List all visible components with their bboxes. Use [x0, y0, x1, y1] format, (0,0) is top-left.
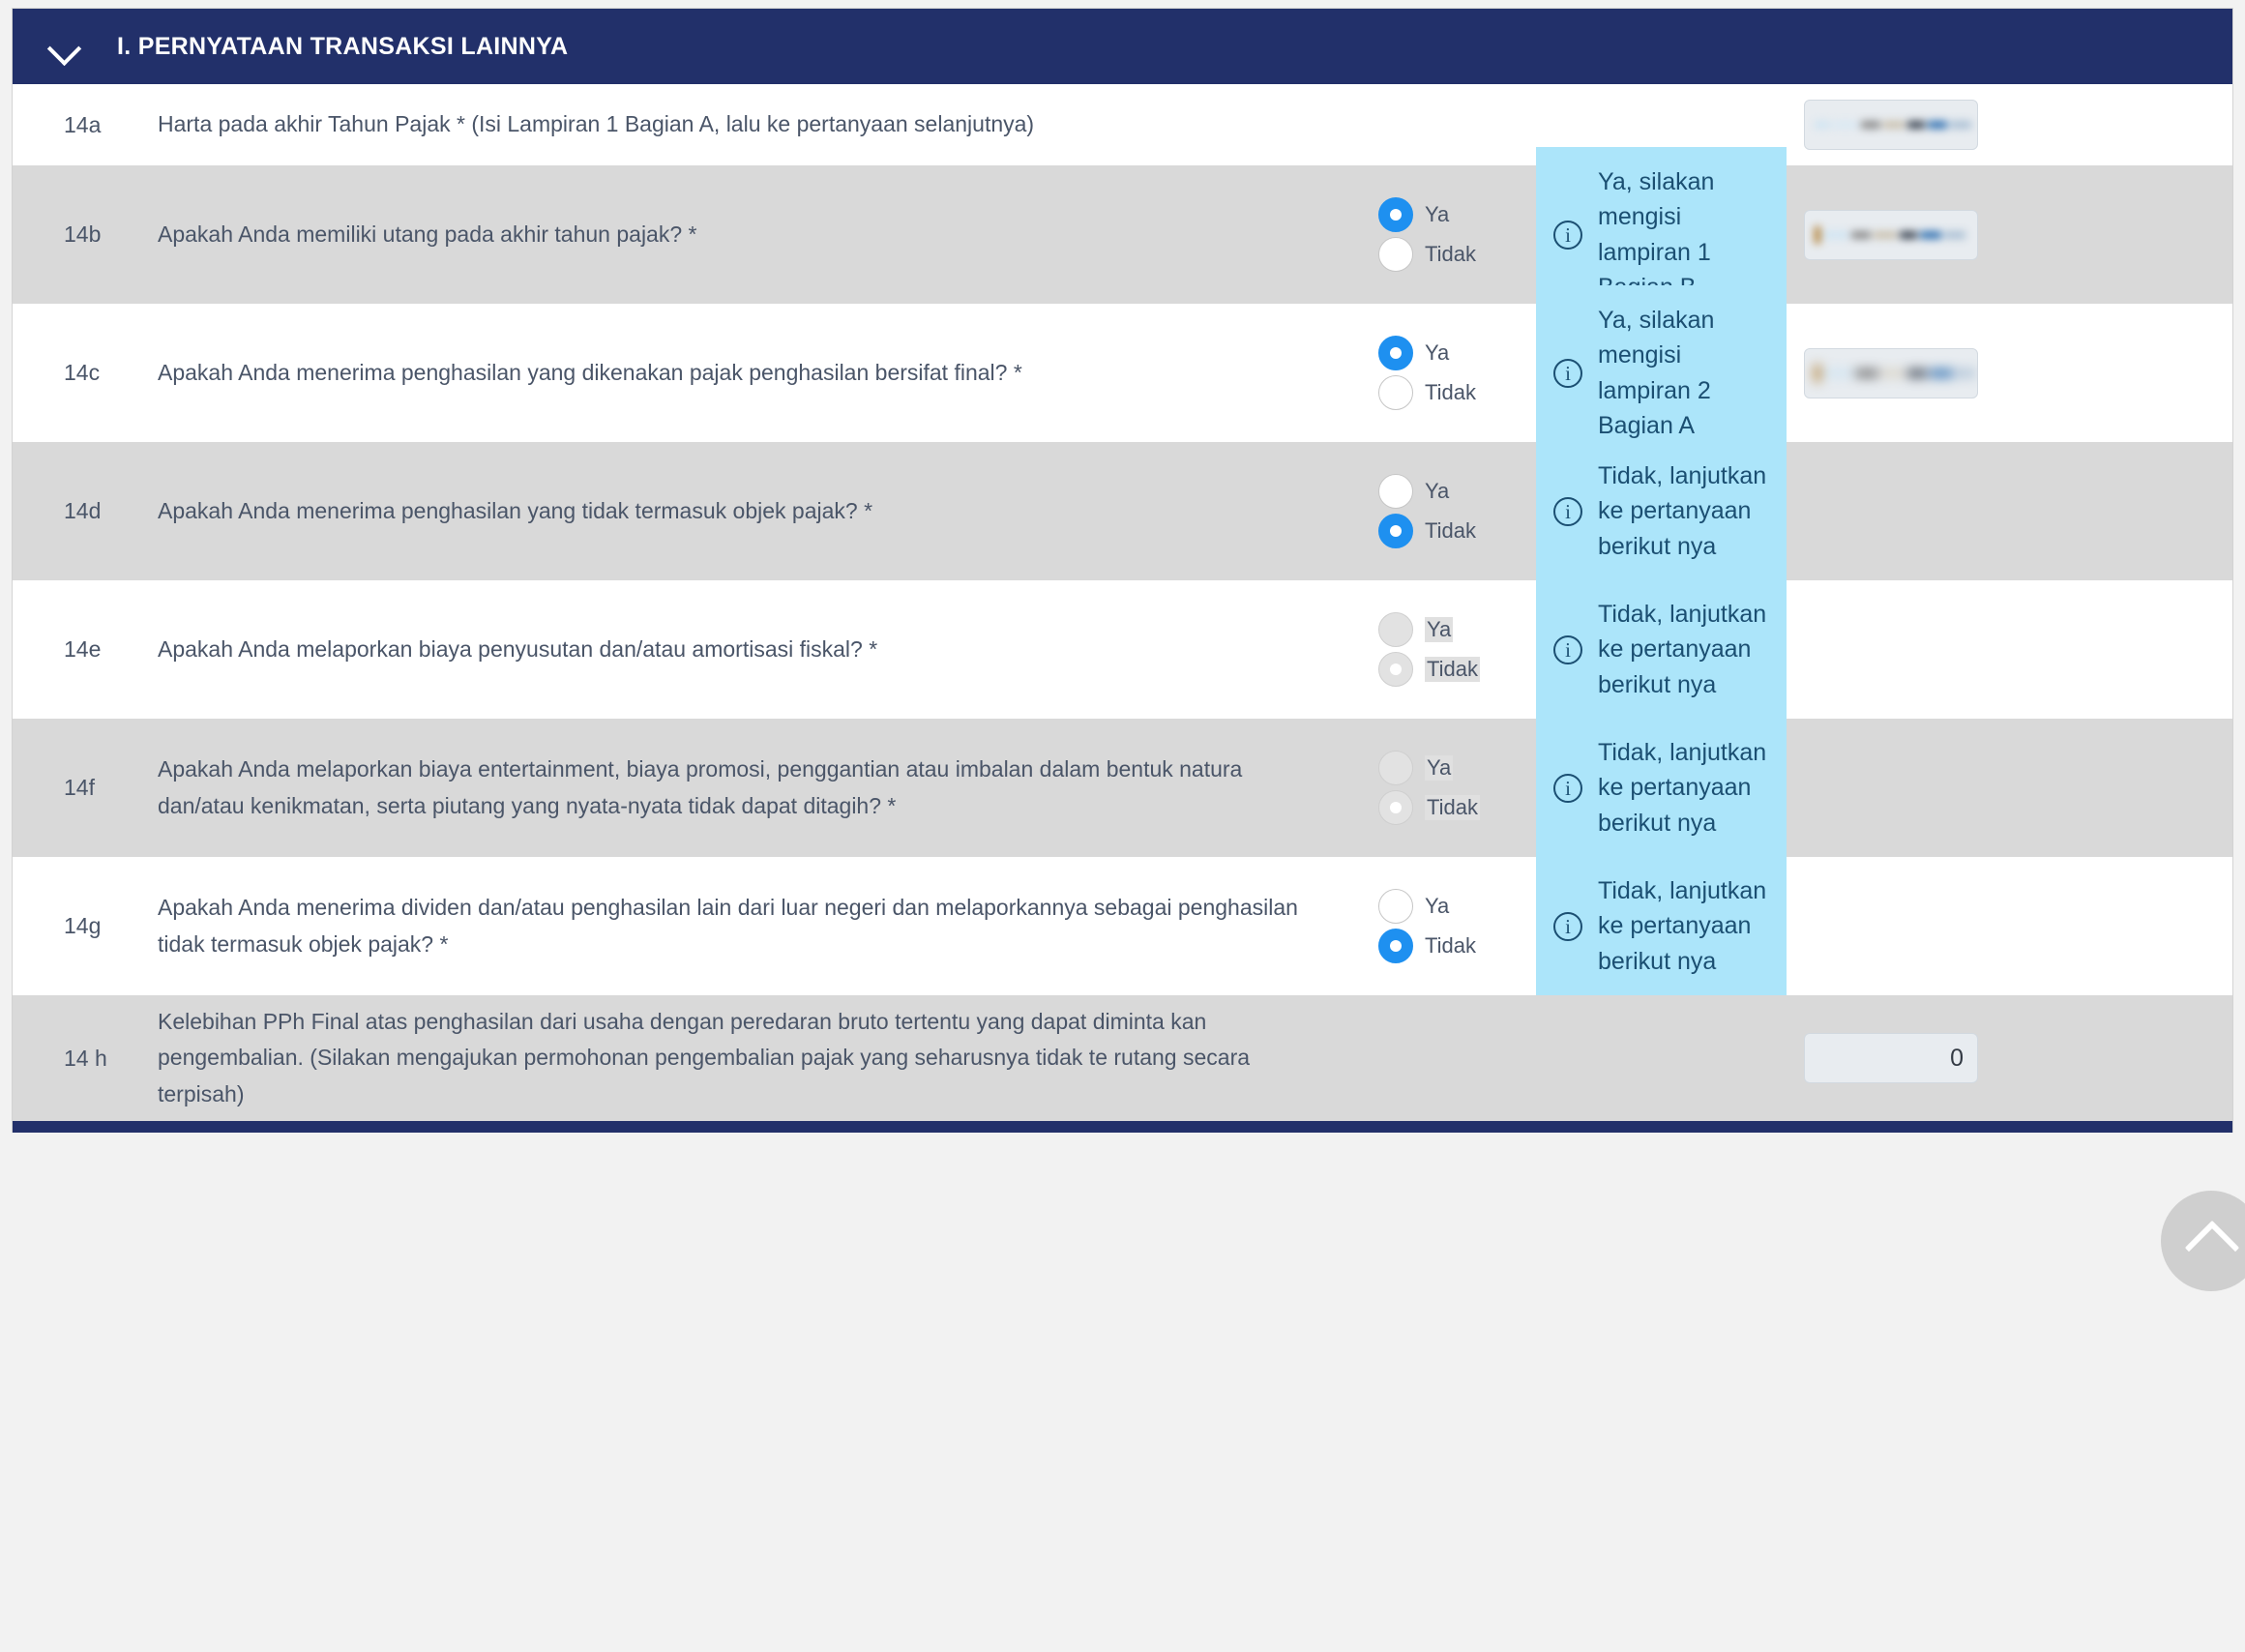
section-card: I. PERNYATAAN TRANSAKSI LAINNYA 14a Hart… [12, 8, 2233, 1121]
utang-amount-input[interactable] [1804, 210, 1978, 260]
radio-yes-icon[interactable] [1378, 889, 1413, 924]
row-code: 14c [13, 360, 158, 386]
radio-yes-icon[interactable] [1378, 612, 1413, 647]
radio-option-yes[interactable]: Ya [1378, 612, 1536, 647]
kelebihan-pph-final-input[interactable]: 0 [1804, 1033, 1978, 1083]
row-input-cell [1804, 210, 2015, 260]
radio-option-yes[interactable]: Ya [1378, 751, 1536, 785]
row-question: Apakah Anda melaporkan biaya penyusutan … [158, 632, 1357, 667]
info-circle-icon: i [1553, 221, 1582, 250]
row-question: Apakah Anda menerima penghasilan yang di… [158, 355, 1357, 391]
section-title: I. PERNYATAAN TRANSAKSI LAINNYA [117, 33, 568, 61]
radio-yes-label: Ya [1425, 755, 1453, 781]
radio-yes-label: Ya [1425, 340, 1449, 366]
radio-option-no[interactable]: Tidak [1378, 652, 1536, 687]
hint-cell: i Tidak, lanjutkan ke pertanyaan berikut… [1536, 441, 1804, 581]
radio-option-yes[interactable]: Ya [1378, 474, 1536, 509]
table-row: 14 h Kelebihan PPh Final atas penghasila… [13, 995, 2232, 1121]
hint-text: Ya, silakan mengisi lampiran 2 Bagian A [1598, 303, 1773, 443]
radio-no-label: Tidak [1425, 795, 1480, 820]
hint-cell: i Ya, silakan mengisi lampiran 2 Bagian … [1536, 285, 1804, 460]
info-circle-icon: i [1553, 359, 1582, 388]
section-header[interactable]: I. PERNYATAAN TRANSAKSI LAINNYA [13, 9, 2232, 84]
row-code: 14 h [13, 1046, 158, 1072]
info-circle-icon: i [1553, 912, 1582, 941]
hint-box: i Tidak, lanjutkan ke pertanyaan berikut… [1536, 718, 1787, 858]
row-input-cell [1804, 100, 2015, 150]
penghasilan-final-input[interactable] [1804, 348, 1978, 398]
table-row: 14d Apakah Anda menerima penghasilan yan… [13, 442, 2232, 580]
radio-no-label: Tidak [1425, 657, 1480, 682]
info-circle-icon: i [1553, 497, 1582, 526]
row-code: 14f [13, 775, 158, 801]
redacted-value [1805, 101, 1977, 149]
radio-group: Ya Tidak [1357, 889, 1536, 963]
radio-option-yes[interactable]: Ya [1378, 336, 1536, 370]
radio-option-yes[interactable]: Ya [1378, 197, 1536, 232]
row-question: Apakah Anda menerima penghasilan yang ti… [158, 493, 1357, 529]
hint-text: Tidak, lanjutkan ke pertanyaan berikut n… [1598, 458, 1773, 564]
row-question: Apakah Anda memiliki utang pada akhir ta… [158, 217, 1357, 252]
row-code: 14e [13, 636, 158, 663]
table-row: 14b Apakah Anda memiliki utang pada akhi… [13, 165, 2232, 304]
radio-no-icon[interactable] [1378, 514, 1413, 548]
radio-no-icon[interactable] [1378, 375, 1413, 410]
redacted-value [1805, 349, 1977, 398]
redacted-value [1805, 211, 1977, 259]
hint-cell: i Tidak, lanjutkan ke pertanyaan berikut… [1536, 579, 1804, 720]
row-question: Harta pada akhir Tahun Pajak * (Isi Lamp… [158, 106, 1357, 142]
radio-group: Ya Tidak [1357, 336, 1536, 410]
radio-group: Ya Tidak [1357, 474, 1536, 548]
radio-group: Ya Tidak [1357, 612, 1536, 687]
row-question: Kelebihan PPh Final atas penghasilan dar… [158, 1004, 1357, 1112]
row-code: 14b [13, 221, 158, 248]
hint-box: i Tidak, lanjutkan ke pertanyaan berikut… [1536, 856, 1787, 996]
radio-yes-label: Ya [1425, 617, 1453, 642]
radio-option-no[interactable]: Tidak [1378, 237, 1536, 272]
hint-text: Ya, silakan mengisi lampiran 1 Bagian B [1598, 164, 1773, 305]
hint-cell: i Tidak, lanjutkan ke pertanyaan berikut… [1536, 856, 1804, 996]
radio-yes-icon[interactable] [1378, 751, 1413, 785]
row-input-cell: 0 [1804, 1033, 2015, 1083]
harta-amount-input[interactable] [1804, 100, 1978, 150]
table-row: 14a Harta pada akhir Tahun Pajak * (Isi … [13, 84, 2232, 165]
radio-option-no[interactable]: Tidak [1378, 375, 1536, 410]
hint-box: i Tidak, lanjutkan ke pertanyaan berikut… [1536, 579, 1787, 720]
hint-text: Tidak, lanjutkan ke pertanyaan berikut n… [1598, 597, 1773, 702]
table-row: 14g Apakah Anda menerima dividen dan/ata… [13, 857, 2232, 995]
table-row: 14c Apakah Anda menerima penghasilan yan… [13, 304, 2232, 442]
hint-text: Tidak, lanjutkan ke pertanyaan berikut n… [1598, 735, 1773, 841]
radio-no-icon[interactable] [1378, 237, 1413, 272]
radio-group: Ya Tidak [1357, 751, 1536, 825]
radio-no-label: Tidak [1425, 518, 1476, 544]
radio-no-icon[interactable] [1378, 790, 1413, 825]
radio-no-label: Tidak [1425, 380, 1476, 405]
radio-option-yes[interactable]: Ya [1378, 889, 1536, 924]
table-row: 14e Apakah Anda melaporkan biaya penyusu… [13, 580, 2232, 719]
hint-text: Tidak, lanjutkan ke pertanyaan berikut n… [1598, 873, 1773, 979]
row-question: Apakah Anda menerima dividen dan/atau pe… [158, 890, 1357, 962]
radio-yes-label: Ya [1425, 894, 1449, 919]
info-circle-icon: i [1553, 774, 1582, 803]
radio-yes-label: Ya [1425, 479, 1449, 504]
row-code: 14a [13, 112, 158, 138]
scroll-to-top-button[interactable] [2161, 1191, 2245, 1291]
hint-box: i Ya, silakan mengisi lampiran 2 Bagian … [1536, 285, 1787, 460]
radio-yes-icon[interactable] [1378, 474, 1413, 509]
radio-option-no[interactable]: Tidak [1378, 929, 1536, 963]
radio-option-no[interactable]: Tidak [1378, 514, 1536, 548]
hint-box: i Tidak, lanjutkan ke pertanyaan berikut… [1536, 441, 1787, 581]
info-circle-icon: i [1553, 635, 1582, 664]
radio-no-icon[interactable] [1378, 652, 1413, 687]
radio-yes-icon[interactable] [1378, 197, 1413, 232]
radio-no-label: Tidak [1425, 933, 1476, 959]
row-input-cell [1804, 348, 2015, 398]
table-row: 14f Apakah Anda melaporkan biaya enterta… [13, 719, 2232, 857]
radio-yes-icon[interactable] [1378, 336, 1413, 370]
radio-yes-label: Ya [1425, 202, 1449, 227]
section-bottom-bar [12, 1121, 2233, 1133]
radio-option-no[interactable]: Tidak [1378, 790, 1536, 825]
form-page: I. PERNYATAAN TRANSAKSI LAINNYA 14a Hart… [0, 0, 2245, 1652]
row-code: 14d [13, 498, 158, 524]
chevron-down-icon[interactable] [49, 36, 82, 57]
radio-no-label: Tidak [1425, 242, 1476, 267]
radio-no-icon[interactable] [1378, 929, 1413, 963]
radio-group: Ya Tidak [1357, 197, 1536, 272]
row-code: 14g [13, 913, 158, 939]
row-question: Apakah Anda melaporkan biaya entertainme… [158, 752, 1357, 824]
hint-cell: i Tidak, lanjutkan ke pertanyaan berikut… [1536, 718, 1804, 858]
